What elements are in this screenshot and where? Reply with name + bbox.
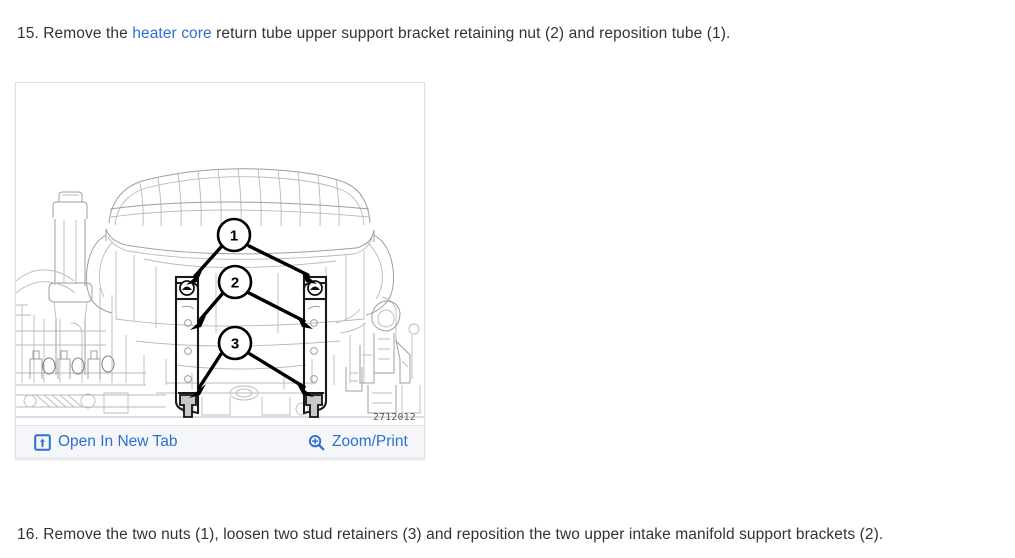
engine-right-accessory-group — [336, 297, 420, 413]
magnifier-plus-icon — [308, 434, 325, 451]
zoom-print-label: Zoom/Print — [332, 433, 408, 451]
figure-image[interactable]: 1 2 3 2712012 — [16, 83, 424, 426]
heater-core-link[interactable]: heater core — [132, 25, 212, 42]
drawing-id-label: 2712012 — [373, 412, 416, 423]
leader-arrows — [186, 246, 317, 398]
step-16-number: 16. — [17, 526, 39, 543]
figure-toolbar: Open In New Tab Zoom/Print — [16, 425, 424, 458]
open-in-new-tab-button[interactable]: Open In New Tab — [34, 433, 177, 451]
open-in-new-tab-label: Open In New Tab — [58, 433, 177, 451]
callout-3: 3 — [219, 327, 251, 359]
technical-drawing-svg: 1 2 3 — [16, 83, 424, 426]
step-15-text-after: return tube upper support bracket retain… — [212, 25, 731, 42]
step-16-text: Remove the two nuts (1), loosen two stud… — [39, 526, 883, 543]
open-in-new-tab-icon — [34, 434, 51, 451]
figure-panel: 1 2 3 2712012 Open In New Tab — [15, 82, 425, 459]
callout-2-label: 2 — [231, 275, 239, 292]
step-15-paragraph: 15. Remove the heater core return tube u… — [17, 24, 730, 44]
callout-3-label: 3 — [231, 336, 239, 353]
zoom-print-button[interactable]: Zoom/Print — [308, 433, 408, 451]
step-15-number: 15. — [17, 25, 39, 42]
lower-stud-retainers — [178, 393, 324, 417]
callout-1-label: 1 — [230, 228, 238, 245]
step-15-text-before: Remove the — [39, 25, 132, 42]
callout-1: 1 — [218, 219, 250, 251]
step-16-paragraph: 16. Remove the two nuts (1), loosen two … — [17, 525, 883, 545]
callout-2: 2 — [219, 266, 251, 298]
